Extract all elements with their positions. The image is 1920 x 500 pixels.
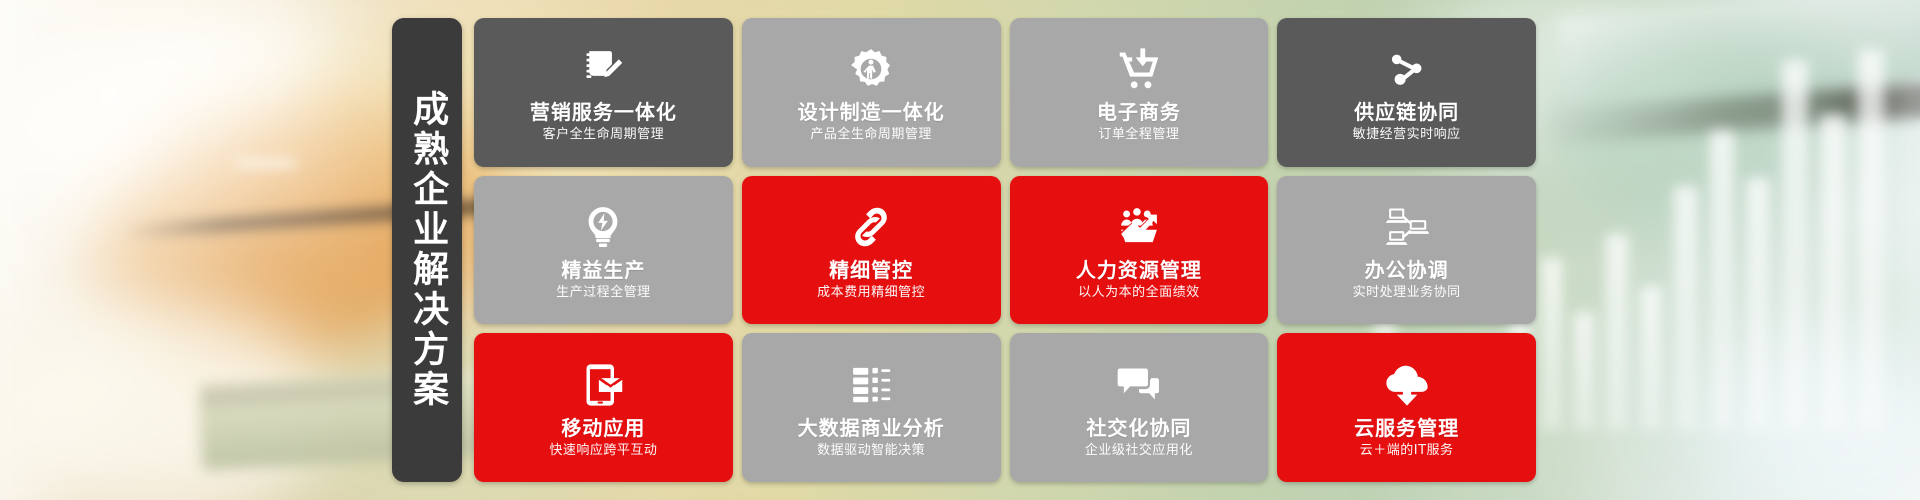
solution-card-subtitle: 快速响应跨平互动 — [549, 444, 657, 458]
chat-bubbles-icon — [1116, 362, 1162, 408]
solution-card-subtitle: 生产过程全管理 — [556, 286, 651, 300]
solution-card-title: 大数据商业分析 — [798, 417, 945, 439]
solution-card[interactable]: 供应链协同 敏捷经营实时响应 — [1277, 18, 1536, 167]
page-title: 成熟企业解决方案 — [408, 90, 446, 410]
solution-card-subtitle: 数据驱动智能决策 — [817, 444, 925, 458]
network-nodes-icon — [1384, 46, 1430, 92]
solution-card[interactable]: 云服务管理 云＋端的IT服务 — [1277, 333, 1536, 482]
solution-card[interactable]: 办公协调 实时处理业务协同 — [1277, 176, 1536, 325]
solution-card-title: 办公协调 — [1365, 259, 1449, 281]
notebook-pencil-icon — [580, 46, 626, 92]
solution-card-subtitle: 敏捷经营实时响应 — [1353, 128, 1461, 142]
solution-card-subtitle: 成本费用精细管控 — [817, 286, 925, 300]
solution-card-subtitle: 产品全生命周期管理 — [810, 128, 932, 142]
mobile-message-icon — [580, 362, 626, 408]
solution-card-title: 社交化协同 — [1086, 417, 1191, 439]
solution-card[interactable]: 设计制造一体化 产品全生命周期管理 — [742, 18, 1001, 167]
solution-card-title: 精细管控 — [829, 259, 913, 281]
solution-card[interactable]: 电子商务 订单全程管理 — [1010, 18, 1269, 167]
solution-card-subtitle: 企业级社交应用化 — [1085, 444, 1193, 458]
shopping-cart-download-icon — [1116, 46, 1162, 92]
solution-card-title: 营销服务一体化 — [530, 101, 677, 123]
solution-card-title: 设计制造一体化 — [798, 101, 945, 123]
banner-stage: ✕ ✕ ✦ 成熟企业解决方案 营销服务一 — [0, 0, 1920, 500]
solution-card-title: 云服务管理 — [1354, 417, 1459, 439]
solution-card[interactable]: 精益生产 生产过程全管理 — [474, 176, 733, 325]
chain-link-icon — [848, 204, 894, 250]
vertical-title-panel: 成熟企业解决方案 — [392, 18, 462, 482]
people-growth-arrow-icon — [1116, 204, 1162, 250]
solution-card-title: 供应链协同 — [1354, 101, 1459, 123]
solution-card[interactable]: 精细管控 成本费用精细管控 — [742, 176, 1001, 325]
solution-card-subtitle: 订单全程管理 — [1098, 128, 1179, 142]
solution-card-subtitle: 实时处理业务协同 — [1353, 286, 1461, 300]
solution-card[interactable]: 社交化协同 企业级社交应用化 — [1010, 333, 1269, 482]
solution-card[interactable]: 营销服务一体化 客户全生命周期管理 — [474, 18, 733, 167]
solution-card[interactable]: 人力资源管理 以人为本的全面绩效 — [1010, 176, 1269, 325]
solution-card-subtitle: 客户全生命周期管理 — [543, 128, 665, 142]
solution-card-title: 人力资源管理 — [1076, 259, 1202, 281]
solution-card-grid: 营销服务一体化 客户全生命周期管理 设计制造一体化 产品全生命周期管理 电子商务… — [474, 18, 1536, 482]
lightbulb-bolt-icon — [580, 204, 626, 250]
solution-card[interactable]: 大数据商业分析 数据驱动智能决策 — [742, 333, 1001, 482]
solution-card[interactable]: 移动应用 快速响应跨平互动 — [474, 333, 733, 482]
solution-card-title: 移动应用 — [561, 417, 645, 439]
connected-computers-icon — [1384, 204, 1430, 250]
solution-card-subtitle: 云＋端的IT服务 — [1360, 444, 1454, 458]
database-bars-icon — [848, 362, 894, 408]
solutions-content: 成熟企业解决方案 营销服务一体化 客户全生命周期管理 设计制造一体化 产品全生命… — [392, 18, 1536, 482]
solution-card-title: 电子商务 — [1097, 101, 1181, 123]
solution-card-title: 精益生产 — [561, 259, 645, 281]
cloud-download-icon — [1384, 362, 1430, 408]
gear-person-icon — [848, 46, 894, 92]
solution-card-subtitle: 以人为本的全面绩效 — [1078, 286, 1200, 300]
